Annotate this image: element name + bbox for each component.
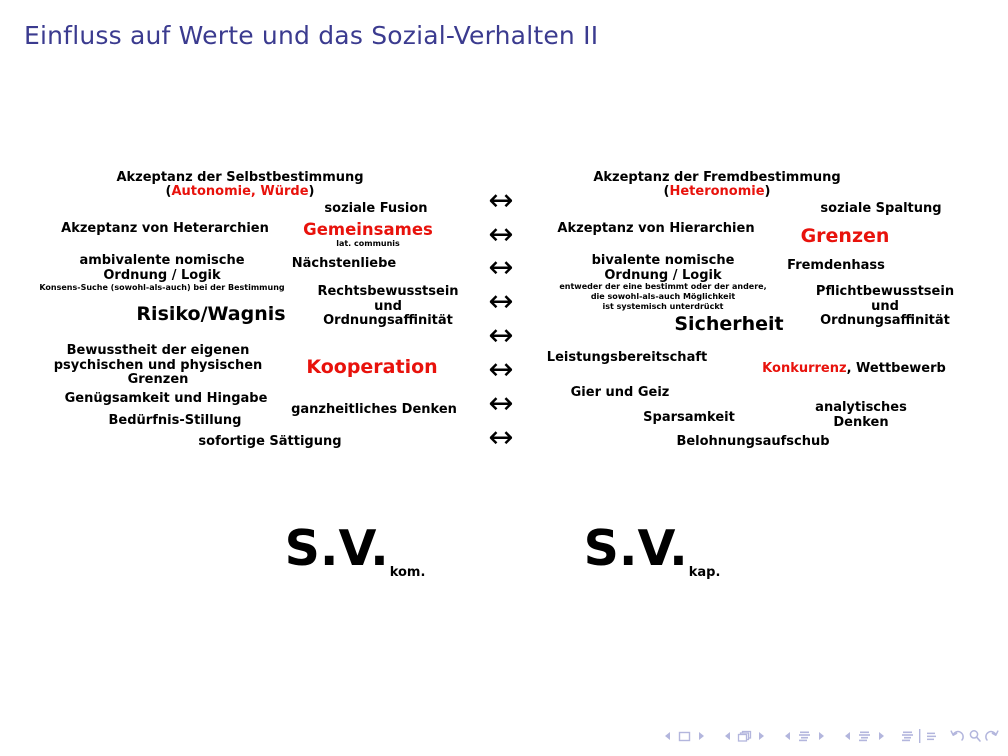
sv-subscript-left: kom. — [390, 565, 426, 580]
right-item-belohnungsaufschub: Belohnungsaufschub — [676, 435, 829, 450]
right-item-leistungsbereitschaft: Leistungsbereitschaft — [547, 351, 707, 366]
left-inner-lat-communis: lat. communis — [336, 239, 400, 249]
right-inner-fremdenhass: Fremdenhass — [787, 259, 885, 274]
next-section-icon[interactable] — [873, 728, 890, 744]
relation-arrow: ↔ — [488, 186, 513, 216]
relation-arrow: ↔ — [488, 220, 513, 250]
relation-arrow: ↔ — [488, 355, 513, 385]
appendix-icon[interactable] — [923, 728, 940, 744]
right-item-sparsamkeit: Sparsamkeit — [643, 411, 735, 426]
right-inner-soziale-spaltung: soziale Spaltung — [820, 202, 941, 217]
nav-group-history[interactable] — [949, 728, 1000, 744]
left-item-beduerfnis-stillung: Bedürfnis-Stillung — [109, 414, 242, 429]
sv-main-left: S.V. — [285, 520, 389, 577]
right-heading-accent: Heteronomie — [669, 184, 764, 199]
nav-group-section[interactable] — [839, 728, 890, 744]
sv-subscript-right: kap. — [689, 565, 721, 580]
left-inner-ganzheitliches-denken: ganzheitliches Denken — [291, 403, 457, 418]
left-heading-accent: Autonomie, Würde — [171, 184, 308, 199]
left-item-bewusstheit-grenzen: Bewusstheit der eigenen psychischen und … — [54, 344, 263, 388]
relation-arrow: ↔ — [488, 253, 513, 283]
right-item-entweder-oder: entweder der eine bestimmt oder der ande… — [559, 282, 766, 312]
paren-close: ) — [309, 184, 315, 199]
next-subsection-icon[interactable] — [813, 728, 830, 744]
right-inner-konkurrenz: Konkurrenz — [762, 361, 846, 376]
next-frame-icon[interactable] — [753, 728, 770, 744]
paren-close: ) — [765, 184, 771, 199]
presentation-start-icon[interactable] — [899, 728, 916, 744]
nav-divider-icon — [916, 728, 923, 744]
left-item-risiko-wagnis: Risiko/Wagnis — [136, 304, 285, 325]
left-item-konsens-suche: Konsens-Suche (sowohl-als-auch) bei der … — [39, 283, 284, 293]
left-heading-accent-line: (Autonomie, Würde) — [166, 185, 315, 200]
frames-icon[interactable] — [736, 728, 753, 744]
relation-arrow: ↔ — [488, 389, 513, 419]
footer-label-sv-kom: S.V.kom. — [285, 524, 426, 579]
left-item-sofortige-saettigung: sofortige Sättigung — [198, 435, 341, 450]
right-inner-konkurrenz-wettbewerb: Konkurrenz, Wettbewerb — [762, 362, 946, 377]
right-item-gier-und-geiz: Gier und Geiz — [571, 386, 670, 401]
left-inner-soziale-fusion: soziale Fusion — [324, 202, 427, 217]
right-item-hierarchien: Akzeptanz von Hierarchien — [557, 222, 754, 237]
beamer-navigation-bar[interactable] — [659, 728, 1000, 744]
sv-main-right: S.V. — [584, 520, 688, 577]
right-item-nomische-ordnung: bivalente nomische Ordnung / Logik — [592, 254, 735, 283]
left-inner-gemeinsames: Gemeinsames — [303, 221, 433, 239]
nav-group-document[interactable] — [899, 728, 940, 744]
right-inner-wettbewerb: , Wettbewerb — [847, 361, 946, 376]
prev-section-icon[interactable] — [839, 728, 856, 744]
page-title: Einfluss auf Werte und das Sozial-Verhal… — [24, 21, 598, 50]
prev-slide-icon[interactable] — [659, 728, 676, 744]
slide-icon[interactable] — [676, 728, 693, 744]
nav-group-subsection[interactable] — [779, 728, 830, 744]
relation-arrow: ↔ — [488, 287, 513, 317]
right-heading-accent-line: (Heteronomie) — [664, 185, 771, 200]
left-inner-rechtsbewusstsein: Rechtsbewusstsein und Ordnungsaffinität — [317, 285, 458, 329]
left-item-heterarchien: Akzeptanz von Heterarchien — [61, 222, 269, 237]
section-icon[interactable] — [856, 728, 873, 744]
right-inner-grenzen: Grenzen — [801, 226, 890, 247]
subsection-icon[interactable] — [796, 728, 813, 744]
right-item-sicherheit: Sicherheit — [674, 314, 783, 335]
left-item-nomische-ordnung: ambivalente nomische Ordnung / Logik — [79, 254, 244, 283]
left-inner-kooperation: Kooperation — [306, 357, 437, 378]
left-inner-naechstenliebe: Nächstenliebe — [292, 257, 397, 272]
right-inner-pflichtbewusstsein: Pflichtbewusstsein und Ordnungsaffinität — [816, 285, 954, 329]
relation-arrow: ↔ — [488, 321, 513, 351]
next-slide-icon[interactable] — [693, 728, 710, 744]
prev-subsection-icon[interactable] — [779, 728, 796, 744]
nav-group-frame[interactable] — [719, 728, 770, 744]
right-inner-analytisches-denken: analytisches Denken — [788, 401, 935, 430]
forward-icon[interactable] — [983, 728, 1000, 744]
relation-arrow: ↔ — [488, 423, 513, 453]
footer-label-sv-kap: S.V.kap. — [584, 524, 721, 579]
slide-canvas: Einfluss auf Werte und das Sozial-Verhal… — [0, 0, 1008, 756]
left-item-genuegsamkeit: Genügsamkeit und Hingabe — [65, 392, 268, 407]
search-icon[interactable] — [966, 728, 983, 744]
prev-frame-icon[interactable] — [719, 728, 736, 744]
back-icon[interactable] — [949, 728, 966, 744]
nav-group-slide[interactable] — [659, 728, 710, 744]
